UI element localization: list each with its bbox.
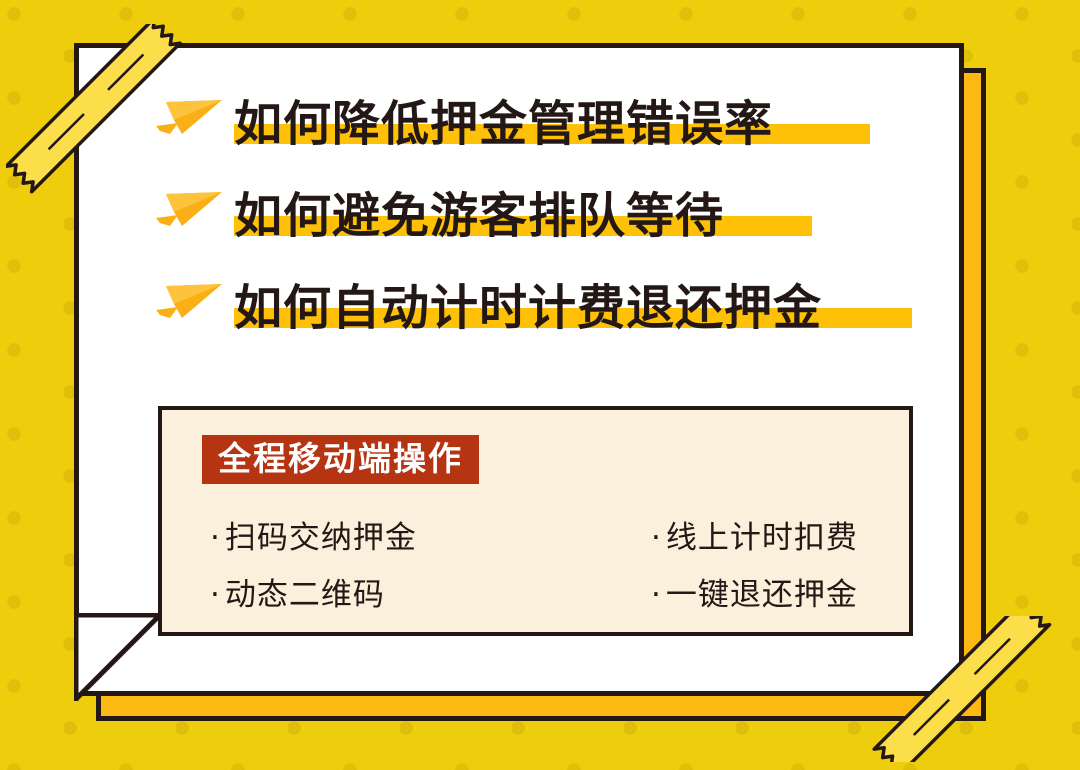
bullet-icon: · [651,520,662,556]
feature-item-label: 扫码交纳押金 [225,520,417,556]
headline-text-2: 如何避免游客排队等待 [234,188,724,244]
poster-canvas: 如何降低押金管理错误率 如何避免游客排队等待 如何自动计时计费退还押 [0,0,1080,770]
paper-plane-arrow-icon [152,280,224,328]
headline-row-3: 如何自动计时计费退还押金 [74,262,964,354]
headline-row-2: 如何避免游客排队等待 [74,170,964,262]
feature-list: ·扫码交纳押金 ·线上计时扣费 ·动态二维码 ·一键退还押金 [210,516,880,618]
feature-item-label: 动态二维码 [225,577,385,613]
feature-item-3: ·动态二维码 [210,573,545,618]
feature-item-2: ·线上计时扣费 [545,516,880,561]
headline-text-1: 如何降低押金管理错误率 [234,96,773,152]
paper-plane-arrow-icon [152,96,224,144]
feature-item-1: ·扫码交纳押金 [210,516,545,561]
headline-wrap-2: 如何避免游客排队等待 [234,192,724,240]
bullet-icon: · [210,577,221,613]
headline-text-3: 如何自动计时计费退还押金 [234,280,822,336]
feature-item-label: 一键退还押金 [666,577,858,613]
headline-row-1: 如何降低押金管理错误率 [74,78,964,170]
feature-panel: 全程移动端操作 ·扫码交纳押金 ·线上计时扣费 ·动态二维码 ·一键退还押金 [158,406,913,636]
headline-list: 如何降低押金管理错误率 如何避免游客排队等待 如何自动计时计费退还押 [74,78,964,354]
bullet-icon: · [210,520,221,556]
folded-corner-icon [74,613,162,701]
paper-plane-arrow-icon [152,188,224,236]
headline-wrap-3: 如何自动计时计费退还押金 [234,284,822,332]
bullet-icon: · [651,577,662,613]
feature-panel-banner: 全程移动端操作 [202,435,479,484]
headline-wrap-1: 如何降低押金管理错误率 [234,100,773,148]
feature-item-label: 线上计时扣费 [666,520,858,556]
feature-item-4: ·一键退还押金 [545,573,880,618]
folded-corner-shape [74,613,162,701]
